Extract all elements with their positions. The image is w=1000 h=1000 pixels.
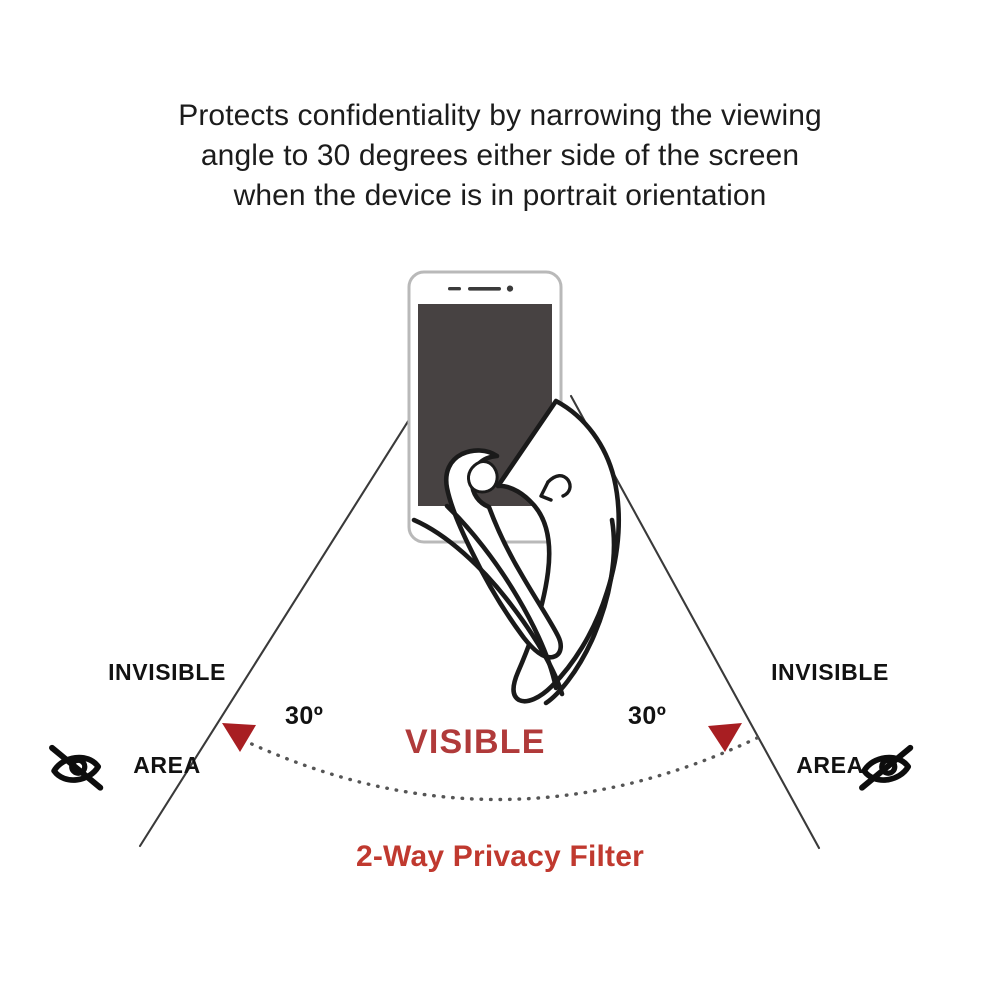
angle-label-right: 30º [628,702,666,731]
invisible-left-line-2: AREA [62,750,272,781]
angle-label-left: 30º [285,702,323,731]
front-camera-icon [507,286,513,292]
visible-area-label: VISIBLE [405,723,546,762]
proximity-sensor-icon [448,287,461,290]
diagram-canvas: Protects confidentiality by narrowing th… [0,0,1000,1000]
earpiece-speaker-icon [468,287,501,291]
invisible-area-label-left: INVISIBLE AREA [62,595,272,843]
fingernail [468,461,497,492]
invisible-right-line-1: INVISIBLE [725,657,935,688]
invisible-area-label-right: INVISIBLE AREA [725,595,935,843]
invisible-left-line-1: INVISIBLE [62,657,272,688]
product-caption: 2-Way Privacy Filter [0,840,1000,874]
invisible-right-line-2: AREA [725,750,935,781]
